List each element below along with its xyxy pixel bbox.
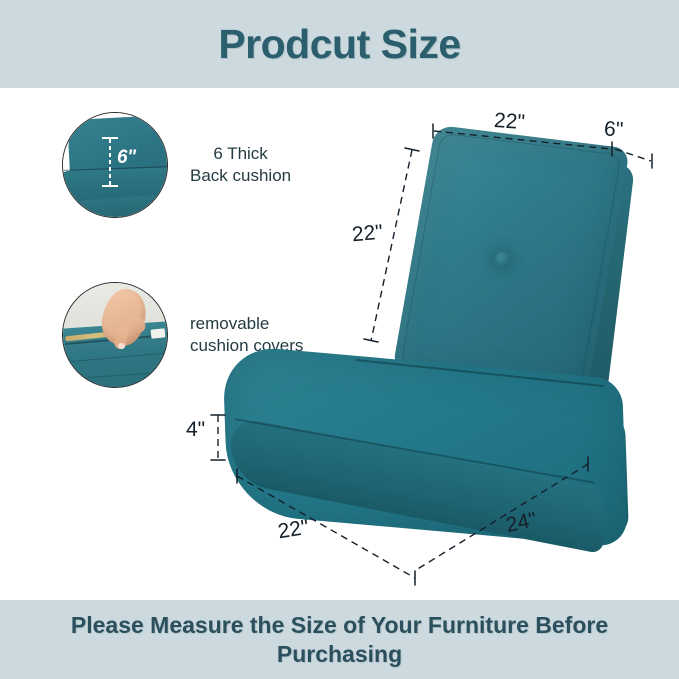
- footer-message: Please Measure the Size of Your Furnitur…: [0, 611, 679, 667]
- dimension-label-back-width: 22": [493, 109, 525, 135]
- thumbnail-removable-cover-icon: [62, 282, 168, 388]
- dimension-label-seat-thickness: 4": [186, 418, 205, 442]
- six-inch-arrow-icon: [109, 137, 111, 187]
- page-title: Prodcut Size: [218, 24, 460, 65]
- dimension-label-back-height: 22": [351, 221, 384, 248]
- footer-banner: Please Measure the Size of Your Furnitur…: [0, 600, 679, 679]
- dimension-label-back-depth: 6": [603, 117, 624, 142]
- thumbnail-cushion-edge-icon: 6": [62, 112, 168, 218]
- header-banner: Prodcut Size: [0, 0, 679, 88]
- tuft-button-icon: [495, 252, 510, 267]
- thumbnail-dimension-label: 6": [117, 147, 136, 169]
- product-illustration: [195, 100, 679, 600]
- infographic-page: Prodcut Size 6" 6 Thick Back cushion: [0, 0, 679, 679]
- dimension-label-seat-depth: 22": [276, 516, 310, 545]
